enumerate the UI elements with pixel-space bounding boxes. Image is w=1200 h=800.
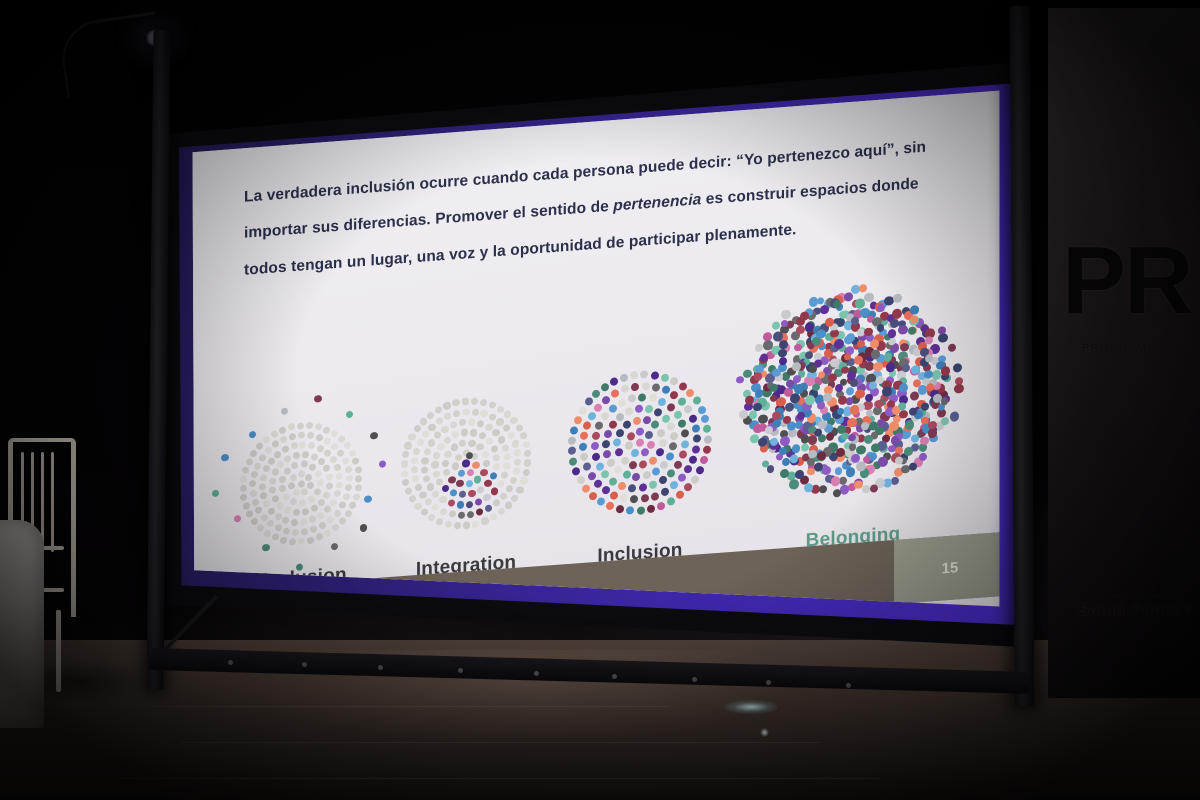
diagram-dot: [625, 441, 633, 450]
diagram-dot: [630, 495, 638, 504]
diagram-dot: [919, 452, 927, 461]
diagram-dot: [331, 542, 338, 550]
diagram-dot: [606, 502, 614, 511]
diagram-dot: [264, 530, 271, 538]
diagram-dot: [583, 462, 591, 471]
diagram-dot: [833, 489, 841, 497]
diagram-dot: [638, 393, 646, 402]
diagram-dot: [468, 439, 475, 447]
diagram-dot: [240, 494, 247, 502]
diagram-dot: [628, 394, 636, 403]
diagram-dot: [704, 435, 712, 444]
diagram-dot: [318, 458, 325, 466]
diagram-dot: [855, 389, 865, 399]
diagram-dot: [753, 423, 763, 434]
diagram-dot: [805, 395, 815, 405]
diagram-dot: [649, 481, 657, 490]
diagram-dot: [345, 510, 352, 518]
floor-plank-line: [150, 706, 670, 707]
diagram-dot: [477, 420, 484, 428]
diagram-dot: [639, 461, 647, 470]
diagram-dot: [902, 364, 910, 372]
diagram-dot: [696, 466, 704, 475]
diagram-dot: [911, 365, 920, 374]
diagram-dot: [850, 405, 859, 415]
diagram-dot: [891, 476, 899, 485]
diagram-dot: [516, 424, 523, 432]
diagram-dot: [336, 481, 343, 489]
diagram-dot: [468, 490, 475, 498]
diagram-dot: [466, 501, 473, 509]
diagram-dot: [693, 435, 701, 444]
diagram-dot: [602, 395, 610, 404]
diagram-dot: [739, 410, 748, 419]
diagram-dot: [263, 436, 270, 444]
diagram-dot: [456, 480, 463, 488]
diagram-dot: [512, 440, 519, 448]
diagram-dot: [404, 442, 411, 450]
diagram-dot: [452, 462, 459, 470]
diagram-dot: [290, 474, 297, 482]
diagram-dot: [661, 373, 669, 382]
floor-reflection: [724, 700, 778, 714]
diagram-dot: [603, 450, 611, 459]
diagram-dot: [758, 414, 768, 424]
diagram-dot: [268, 457, 275, 465]
diagram-dot: [435, 406, 442, 414]
diagram-dot: [249, 480, 256, 488]
diagram-dot: [336, 472, 343, 480]
diagram-dot: [274, 451, 281, 459]
diagram-dot: [864, 435, 873, 445]
diagram-dot: [346, 410, 353, 418]
diagram-dot: [649, 456, 657, 465]
diagram-dot: [631, 449, 639, 458]
presentation-scene: La verdadera inclusión ocurre cuando cad…: [0, 0, 1200, 800]
diagram-dot: [749, 410, 758, 419]
diagram-dot: [402, 478, 409, 486]
diagram-dot: [463, 522, 470, 530]
projected-slide: La verdadera inclusión ocurre cuando cad…: [186, 84, 1006, 634]
diagram-dot: [291, 442, 298, 450]
diagram-dot: [579, 406, 587, 415]
diagram-dot: [905, 420, 914, 430]
diagram-dot: [319, 522, 326, 530]
diagram-dot: [800, 312, 809, 321]
diagram-dot: [459, 491, 466, 499]
diagram-dot: [419, 491, 426, 499]
diagram-dot: [670, 377, 678, 386]
diagram-dot: [513, 467, 520, 475]
diagram-dot: [457, 501, 464, 509]
diagram-dot: [293, 489, 300, 497]
diagram-dot: [828, 373, 837, 382]
diagram-dot: [455, 453, 462, 461]
diagram-dot: [574, 416, 582, 425]
diagram-dot: [510, 476, 517, 484]
diagram-dot: [290, 498, 297, 506]
diagram-dot: [616, 429, 624, 438]
diagram-dot: [477, 486, 484, 494]
diagram-dot: [692, 424, 700, 433]
diagram-dot: [855, 298, 865, 308]
diagram-dot: [349, 502, 356, 510]
diagram-dot: [298, 431, 305, 439]
frame-stud: [302, 662, 307, 667]
diagram-dot: [610, 491, 618, 500]
diagram-dot: [817, 401, 825, 409]
diagram-inclusion: [554, 352, 726, 537]
diagram-dot: [443, 402, 450, 410]
chair-cover-cloth: [0, 520, 44, 728]
diagram-dot: [474, 476, 481, 484]
diagram-dot: [662, 386, 670, 395]
diagram-dot: [667, 469, 675, 478]
diagram-dot: [280, 436, 287, 444]
diagram-dot: [950, 412, 959, 422]
diagram-dot: [240, 485, 247, 493]
diagram-dot: [652, 467, 660, 476]
diagram-dot: [221, 453, 228, 461]
diagram-dot: [835, 467, 842, 475]
diagram-dot: [643, 471, 651, 480]
diagram-dot: [467, 511, 474, 519]
diagram-dot: [523, 441, 530, 449]
diagram-dot: [450, 421, 457, 429]
diagram-dot: [472, 461, 479, 469]
diagram-dot: [568, 447, 576, 456]
projection-screen: La verdadera inclusión ocurre cuando cad…: [148, 62, 1023, 662]
diagram-dot: [442, 460, 449, 468]
chair: [0, 438, 70, 688]
diagram-dot: [700, 456, 708, 465]
diagram-dot: [250, 450, 257, 458]
diagram-dot: [293, 509, 300, 517]
diagram-dot: [910, 306, 918, 315]
diagram-dot: [941, 417, 949, 425]
diagram-dot: [636, 427, 644, 436]
diagram-dot: [628, 484, 636, 493]
diagram-dot: [577, 476, 585, 485]
diagram-dot: [427, 483, 434, 491]
diagram-dot: [659, 438, 667, 447]
diagram-dot: [954, 383, 963, 393]
diagram-dot: [291, 462, 298, 470]
diagram-dot: [326, 473, 333, 481]
pullup-banner: PR PROGRAMA INT Ministerio de Salud Públ…: [1048, 8, 1200, 698]
diagram-dot: [318, 499, 325, 507]
diagram-dot: [846, 467, 856, 477]
diagram-dot: [620, 374, 628, 383]
diagram-dot: [789, 479, 798, 489]
diagram-dot: [785, 403, 794, 412]
diagram-dot: [681, 440, 689, 449]
diagram-dot: [637, 506, 645, 515]
diagram-dot: [524, 450, 531, 458]
diagram-dot: [443, 469, 450, 477]
diagram-dot: [349, 449, 356, 457]
diagram-dot: [261, 514, 268, 522]
diagram-dot: [323, 426, 330, 434]
diagram-dot: [485, 504, 492, 512]
diagram-dot: [420, 418, 427, 426]
diagram-dot: [401, 460, 408, 468]
diagram-dot: [434, 432, 441, 440]
diagram-dot: [342, 457, 349, 465]
diagram-dot: [602, 440, 610, 449]
diagram-dot: [459, 419, 466, 427]
diagram-dot: [792, 444, 801, 453]
diagram-dot: [609, 404, 617, 413]
diagram-dot: [647, 505, 655, 514]
diagram-dot: [654, 408, 662, 417]
diagram-dot: [255, 506, 262, 514]
diagram-dot: [324, 506, 331, 514]
diagram-dot: [508, 432, 515, 440]
diagram-dot: [301, 460, 308, 468]
diagram-dot: [259, 483, 266, 491]
diagram-dot: [909, 463, 917, 471]
diagram-dot: [305, 473, 312, 481]
diagram-dot: [681, 429, 689, 438]
diagram-dot: [279, 476, 286, 484]
diagram-dot: [409, 495, 416, 503]
diagram-dot: [311, 453, 318, 461]
diagram-dot: [337, 449, 344, 457]
diagram-dot: [572, 467, 580, 476]
diagram-dot: [616, 505, 624, 514]
diagram-dot: [898, 325, 908, 335]
diagram-dot: [613, 438, 621, 447]
chair-leg: [56, 610, 61, 692]
diagram-dot: [302, 451, 309, 459]
diagram-dot: [301, 528, 308, 536]
diagram-dot: [482, 451, 489, 459]
diagram-dot: [462, 460, 469, 468]
diagram-dot: [579, 442, 587, 451]
diagram-dot: [679, 450, 687, 459]
diagram-dot: [453, 409, 460, 417]
diagram-dot: [835, 384, 843, 393]
diagram-dot: [302, 508, 309, 516]
diagram-dot: [314, 395, 321, 403]
frame-stud: [692, 677, 697, 682]
diagram-dot: [511, 494, 518, 502]
diagram-dot: [315, 470, 322, 478]
diagram-dot: [870, 484, 878, 493]
diagram-dot: [445, 520, 452, 528]
diagram-dot: [684, 465, 692, 474]
diagram-dot: [589, 491, 597, 500]
diagram-dot: [353, 493, 360, 501]
diagram-dot: [317, 445, 324, 453]
diagram-dot: [421, 466, 428, 474]
floor-reflection-small: [760, 728, 769, 737]
diagram-dot: [689, 455, 697, 464]
diagram-dot: [849, 443, 857, 451]
diagram-dot: [269, 487, 276, 495]
diagram-dot: [317, 512, 324, 520]
diagram-dot: [301, 488, 308, 496]
diagram-dot: [401, 469, 408, 477]
diagram-integration: [386, 378, 546, 550]
diagram-dot: [459, 439, 466, 447]
diagram-dot: [262, 544, 269, 552]
diagram-dot: [506, 485, 513, 493]
diagram-dot: [458, 511, 465, 519]
diagram-dot: [670, 432, 678, 441]
diagram-dot: [594, 403, 602, 412]
diagram-dot: [678, 474, 686, 483]
diagram-dot: [640, 370, 648, 379]
diagram-dot: [657, 428, 665, 437]
diagram-dot: [585, 397, 593, 406]
diagram-dot: [875, 400, 883, 408]
diagram-dot: [326, 482, 333, 490]
diagram-dot: [826, 433, 834, 441]
diagram-dot: [472, 520, 479, 528]
diagram-dot: [309, 516, 316, 524]
diagram-dot: [338, 435, 345, 443]
diagram-dot: [904, 446, 913, 455]
diagram-dot: [661, 487, 669, 496]
diagram-dot: [618, 398, 626, 407]
slide-text-italic: pertenencia: [613, 192, 701, 215]
diagram-dot: [444, 413, 451, 421]
diagram-dot: [315, 423, 322, 431]
diagram-dot: [417, 439, 424, 447]
diagram-dot: [452, 431, 459, 439]
diagram-dot: [633, 416, 641, 425]
diagram-dot: [660, 460, 668, 469]
diagram-dot: [272, 469, 279, 477]
diagram-dot: [405, 487, 412, 495]
diagram-dot: [458, 469, 465, 477]
diagram-dot: [379, 460, 386, 468]
diagram-dot: [249, 431, 256, 439]
diagram-dot: [656, 448, 664, 457]
diagram-dot: [355, 466, 362, 474]
diagram-dot: [658, 397, 666, 406]
diagram-dot: [643, 416, 651, 425]
diagram-dot: [701, 415, 709, 424]
diagram-dot: [490, 472, 497, 480]
diagram-dot: [674, 410, 682, 419]
diagram-dot: [667, 422, 675, 431]
diagram-dot: [491, 488, 498, 496]
diagram-dot: [428, 514, 435, 522]
diagram-dot: [790, 454, 798, 463]
diagram-dot: [692, 445, 700, 454]
slide-surface: La verdadera inclusión ocurre cuando cad…: [186, 84, 1006, 634]
diagram-dot: [865, 393, 874, 402]
diagram-dot: [670, 481, 678, 490]
diagram-dot: [479, 432, 486, 440]
diagram-dot: [796, 325, 804, 334]
diagram-dot: [652, 383, 660, 392]
diagram-dot: [439, 496, 446, 504]
diagram-dot: [283, 493, 290, 501]
diagram-dot: [300, 518, 307, 526]
diagram-dot: [754, 372, 763, 381]
diagram-dot: [234, 515, 241, 523]
diagram-dot: [602, 486, 610, 495]
diagram-dot: [609, 420, 617, 429]
diagram-dot: [316, 434, 323, 442]
diagram-dot: [450, 489, 457, 497]
diagram-dot: [491, 445, 498, 453]
diagram-dot: [667, 403, 675, 412]
diagram-dot: [339, 502, 346, 510]
diagram-dot: [268, 507, 275, 515]
diagram-dot: [282, 446, 289, 454]
diagram-dot: [324, 438, 331, 446]
diagram-dot: [911, 434, 919, 442]
diagram-dot: [500, 492, 507, 500]
diagram-dot: [497, 480, 504, 488]
diagram-dot: [925, 336, 933, 345]
diagram-dot: [467, 469, 474, 477]
diagram-dot: [323, 491, 330, 499]
diagram-dot: [503, 462, 510, 470]
diagram-dot: [869, 381, 877, 389]
diagram-dot: [601, 412, 609, 421]
diagram-dot: [272, 495, 279, 503]
diagram-dot: [596, 462, 604, 471]
diagram-dot: [865, 362, 873, 371]
diagram-dot: [292, 528, 299, 536]
diagram-dot: [441, 425, 448, 433]
diagram-dot: [840, 484, 850, 495]
diagram-dot: [626, 506, 634, 515]
diagram-dot: [953, 363, 962, 373]
diagram-dot: [703, 425, 711, 434]
diagram-dot: [444, 436, 451, 444]
diagram-dot: [601, 470, 609, 479]
diagram-dot: [265, 447, 272, 455]
diagram-dot: [615, 448, 623, 457]
diagram-dot: [823, 392, 832, 401]
diagram-dot: [277, 502, 284, 510]
diagram-dot: [691, 475, 699, 484]
diagram-dot: [651, 421, 659, 430]
diagram-dot: [306, 422, 313, 430]
diagram-dot: [411, 466, 418, 474]
diagram-dot: [678, 419, 686, 428]
diagram-dot: [462, 408, 469, 416]
diagram-dot: [402, 451, 409, 459]
diagram-dot: [900, 343, 909, 352]
frame-stud: [228, 660, 233, 665]
diagram-dot: [618, 481, 626, 490]
diagram-dot: [352, 457, 359, 465]
diagram-dot: [289, 538, 296, 546]
diagram-dot: [428, 423, 435, 431]
banner-footer-main: Salud Pública: [1060, 600, 1200, 620]
diagram-dot: [698, 405, 706, 414]
diagram-dot: [449, 510, 456, 518]
diagram-dot: [448, 499, 455, 507]
diagram-dot: [892, 308, 902, 319]
diagram-dot: [432, 490, 439, 498]
slide-body-text: La verdadera inclusión ocurre cuando cad…: [244, 128, 950, 289]
diagram-dot: [462, 398, 469, 406]
diagram-dot: [289, 433, 296, 441]
diagram-dot: [454, 522, 461, 530]
diagram-dot: [616, 413, 624, 422]
diagram-dot: [480, 410, 487, 418]
diagram-dot: [355, 484, 362, 492]
